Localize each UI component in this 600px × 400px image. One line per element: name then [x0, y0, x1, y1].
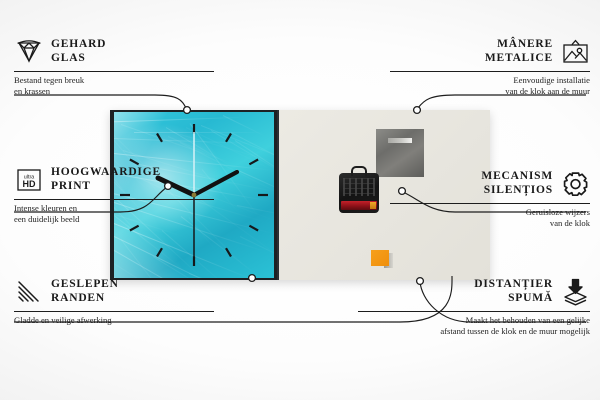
ultra-hd-icon-bottom: HD [23, 179, 36, 189]
beveled-edges-icon [14, 277, 44, 307]
feature-header: DISTANȚIER SPUMĂ [358, 276, 590, 308]
feature-description: Gladde en veilige afwerking [14, 315, 214, 326]
gear-icon [560, 169, 590, 199]
mechanism-vents [343, 178, 375, 196]
feature-gehard-glas: GEHARD GLAS Bestand tegen breuk en krass… [14, 36, 214, 98]
ultra-hd-icon: ultra HD [14, 165, 44, 195]
battery-terminal [370, 202, 376, 209]
feature-divider [358, 311, 590, 312]
press-down-layers-icon [560, 277, 590, 307]
feature-mecanism-silentios: MECANISM SILENȚIOS Geruisloze wijzers va… [390, 168, 590, 230]
feature-divider [390, 71, 590, 72]
infographic-canvas: GEHARD GLAS Bestand tegen breuk en krass… [0, 0, 600, 400]
feature-description: Bestand tegen breuk en krassen [14, 75, 214, 98]
feature-title: MECANISM SILENȚIOS [481, 170, 553, 197]
feature-description: Intense kleuren en een duidelijk beeld [14, 203, 214, 226]
diamond-icon [14, 37, 44, 67]
feature-title: MÂNERE METALICE [485, 38, 553, 65]
feature-header: GEHARD GLAS [14, 36, 214, 68]
clock-mechanism [339, 173, 379, 213]
mechanism-hanging-loop [351, 166, 367, 176]
feature-header: MÂNERE METALICE [390, 36, 590, 68]
feature-hoogwaardige-print: ultra HD HOOGWAARDIGE PRINT Intense kleu… [14, 164, 214, 226]
feature-description: Maakt het behouden van een gelijke afsta… [358, 315, 590, 338]
feature-divider [14, 71, 214, 72]
feature-manere-metalice: MÂNERE METALICE Eenvoudige installatie v… [390, 36, 590, 98]
feature-header: ultra HD HOOGWAARDIGE PRINT [14, 164, 214, 196]
feature-title: DISTANȚIER SPUMĂ [474, 278, 553, 305]
feature-geslepen-randen: GESLEPEN RANDEN Gladde en veilige afwerk… [14, 276, 214, 326]
feature-title: HOOGWAARDIGE PRINT [51, 166, 161, 193]
feature-distantier-spuma: DISTANȚIER SPUMĂ Maakt het behouden van … [358, 276, 590, 338]
feature-title: GESLEPEN RANDEN [51, 278, 119, 305]
feature-divider [390, 203, 590, 204]
feature-description: Geruisloze wijzers van de klok [390, 207, 590, 230]
picture-frame-hook-icon [560, 37, 590, 67]
feature-header: GESLEPEN RANDEN [14, 276, 214, 308]
feature-divider [14, 199, 214, 200]
feature-divider [14, 311, 214, 312]
feature-description: Eenvoudige installatie van de klok aan d… [390, 75, 590, 98]
feature-header: MECANISM SILENȚIOS [390, 168, 590, 200]
hanger-slot [388, 138, 412, 143]
foam-spacer [371, 250, 389, 266]
battery [341, 201, 377, 210]
feature-title: GEHARD GLAS [51, 38, 106, 65]
